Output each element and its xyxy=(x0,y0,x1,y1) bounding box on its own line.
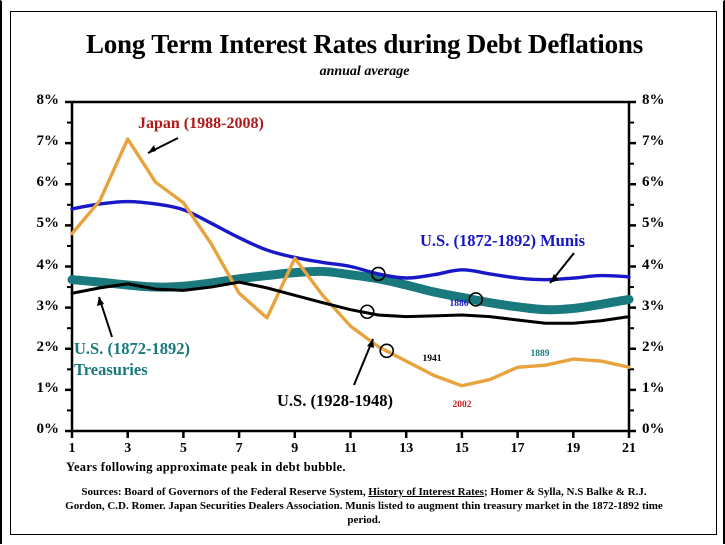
x-axis-title: Years following approximate peak in debt… xyxy=(66,460,346,475)
y-tick-label-right-4: 4% xyxy=(642,257,682,274)
x-tick-label-13: 13 xyxy=(391,441,421,457)
x-tick-label-11: 11 xyxy=(336,441,366,457)
sources-text-b: ; Homer & Sylla, N.S xyxy=(484,486,583,498)
x-tick-label-9: 9 xyxy=(280,441,310,457)
x-tick-label-19: 19 xyxy=(558,441,588,457)
x-tick-label-3: 3 xyxy=(113,441,143,457)
x-tick-label-5: 5 xyxy=(168,441,198,457)
y-tick-label-left-5: 5% xyxy=(19,215,59,232)
x-tick-label-15: 15 xyxy=(447,441,477,457)
annotation-1941: 1941 xyxy=(412,354,452,364)
series-label-treasuries: U.S. (1872-1892) Treasuries xyxy=(74,338,190,380)
y-tick-label-right-3: 3% xyxy=(642,298,682,315)
y-tick-label-left-3: 3% xyxy=(19,298,59,315)
series-label-munis: U.S. (1872-1892) Munis xyxy=(420,231,585,251)
series-line-u-s-1928-1948 xyxy=(72,282,629,323)
series-label-us-1928-1948: U.S. (1928-1948) xyxy=(277,391,393,411)
y-tick-label-right-7: 7% xyxy=(642,133,682,150)
y-tick-label-right-1: 1% xyxy=(642,380,682,397)
series-label-japan: Japan (1988-2008) xyxy=(138,115,264,133)
sources-text-a: Sources: Board of Governors of the Feder… xyxy=(81,486,368,498)
sources-book-title: History of Interest Rates xyxy=(368,486,484,498)
y-tick-label-left-7: 7% xyxy=(19,133,59,150)
y-tick-label-right-2: 2% xyxy=(642,339,682,356)
x-tick-label-1: 1 xyxy=(57,441,87,457)
chart-annotation-markers xyxy=(361,267,483,357)
annotation-2002: 2002 xyxy=(442,400,482,410)
y-tick-label-right-5: 5% xyxy=(642,215,682,232)
x-tick-label-7: 7 xyxy=(224,441,254,457)
annotation-1889: 1889 xyxy=(520,349,560,359)
x-tick-label-21: 21 xyxy=(614,441,644,457)
x-tick-label-17: 17 xyxy=(503,441,533,457)
y-tick-label-left-8: 8% xyxy=(19,92,59,109)
y-tick-label-right-6: 6% xyxy=(642,174,682,191)
sources-note: Sources: Board of Governors of the Feder… xyxy=(64,485,664,527)
y-tick-label-left-6: 6% xyxy=(19,174,59,191)
y-tick-label-left-1: 1% xyxy=(19,380,59,397)
y-tick-label-right-0: 0% xyxy=(642,421,682,438)
y-tick-label-left-2: 2% xyxy=(19,339,59,356)
y-tick-label-right-8: 8% xyxy=(642,92,682,109)
slide-frame: Long Term Interest Rates during Debt Def… xyxy=(0,0,725,544)
y-tick-label-left-4: 4% xyxy=(19,257,59,274)
annotation-1886: 1886 xyxy=(439,299,479,309)
y-tick-label-left-0: 0% xyxy=(19,421,59,438)
